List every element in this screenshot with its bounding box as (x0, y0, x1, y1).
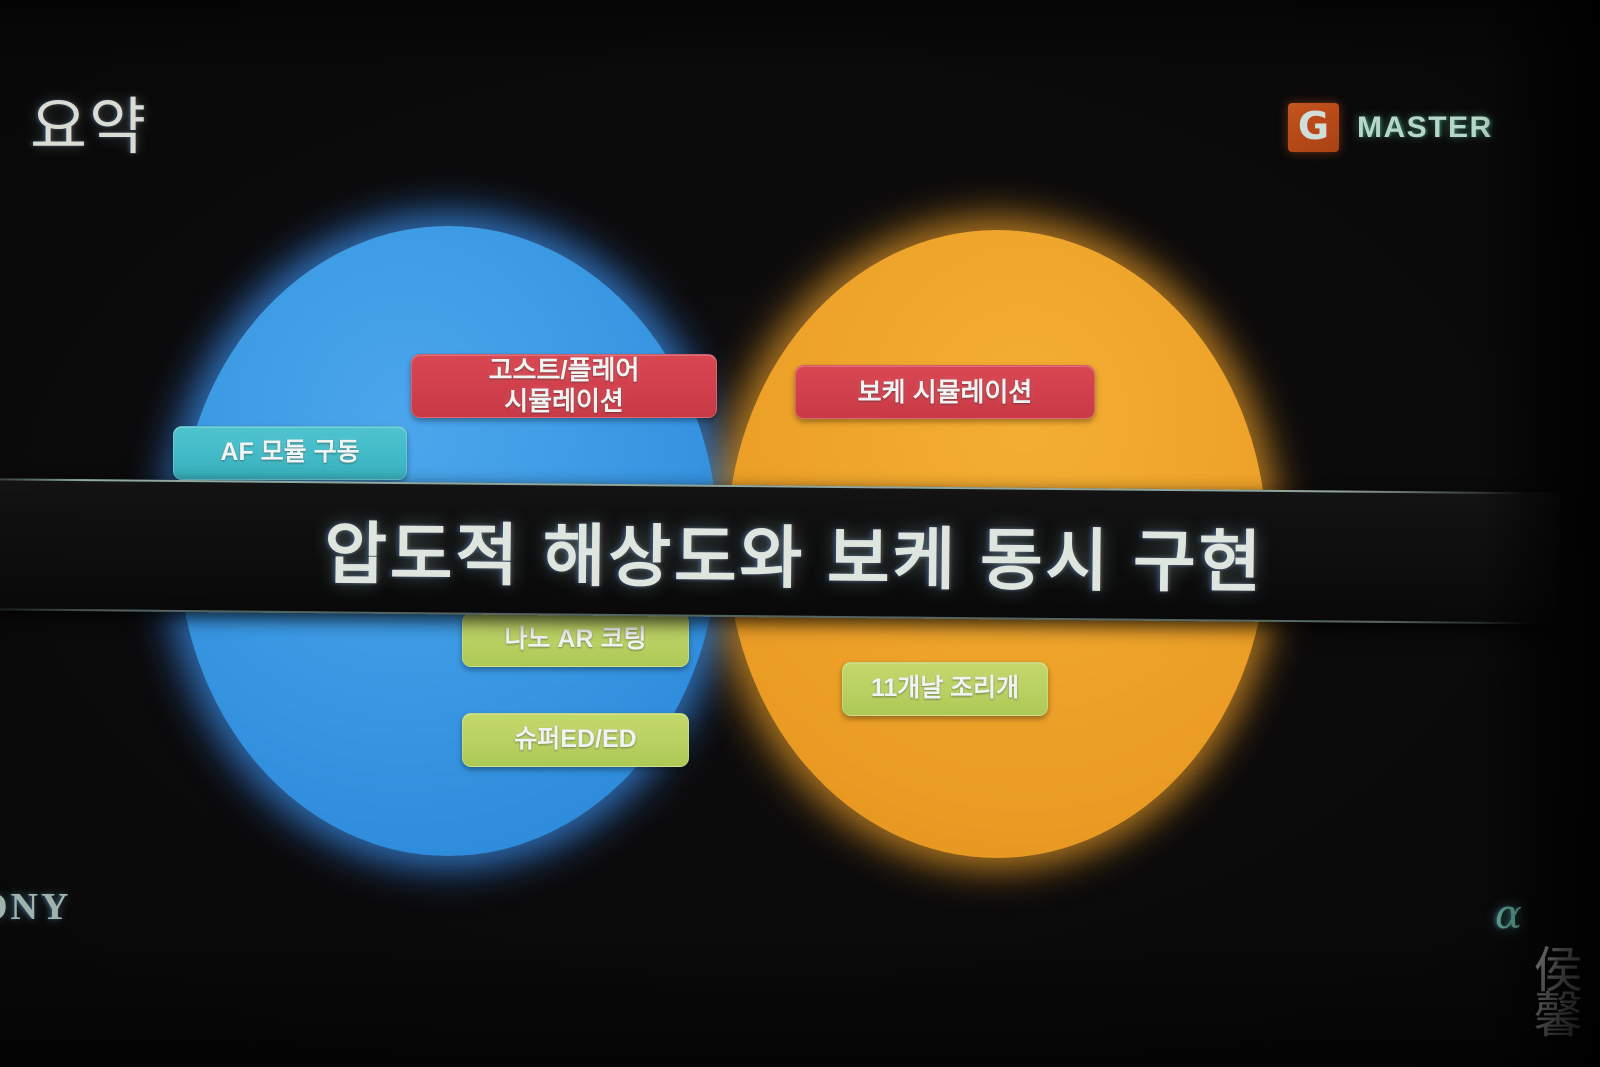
label-eleven-blade-aperture: 11개날 조리개 (842, 662, 1048, 716)
page-title: 요약 (30, 97, 148, 159)
label-ghost-flare-simulation: 고스트/플레어 시뮬레이션 (411, 354, 717, 418)
label-line-1: 나노 AR 코팅 (504, 625, 646, 655)
label-line-1: 보케 시뮬레이션 (858, 377, 1033, 408)
headline-banner: 압도적 해상도와 보케 동시 구현 (0, 478, 1560, 625)
label-af-module-drive: AF 모듈 구동 (173, 426, 407, 480)
label-line-1: AF 모듈 구동 (220, 438, 359, 468)
alpha-brand-mark: α (1495, 895, 1522, 935)
g-master-letter: G (1298, 107, 1329, 145)
g-master-wordmark: MASTER (1357, 111, 1493, 145)
label-line-1: 11개날 조리개 (871, 674, 1019, 704)
label-nano-ar-coating: 나노 AR 코팅 (462, 613, 689, 667)
sony-logo: ONY (0, 885, 71, 929)
g-master-logo: G MASTER (1288, 103, 1493, 152)
label-line-2: 시뮬레이션 (504, 386, 624, 417)
photographer-watermark: 侯 馨 (1522, 948, 1594, 1038)
label-super-ed-ed: 슈퍼ED/ED (462, 713, 689, 767)
banner-headline-text: 압도적 해상도와 보케 동시 구현 (0, 478, 1560, 625)
g-master-badge-icon: G (1288, 103, 1339, 152)
label-line-1: 슈퍼ED/ED (514, 725, 636, 755)
label-bokeh-simulation: 보케 시뮬레이션 (795, 365, 1095, 419)
watermark-char-bottom: 馨 (1522, 993, 1594, 1038)
label-line-1: 고스트/플레어 (489, 355, 640, 386)
projected-slide-photo: 고스트/플레어 시뮬레이션 보케 시뮬레이션 AF 모듈 구동 나노 AR 코팅… (0, 0, 1600, 1067)
